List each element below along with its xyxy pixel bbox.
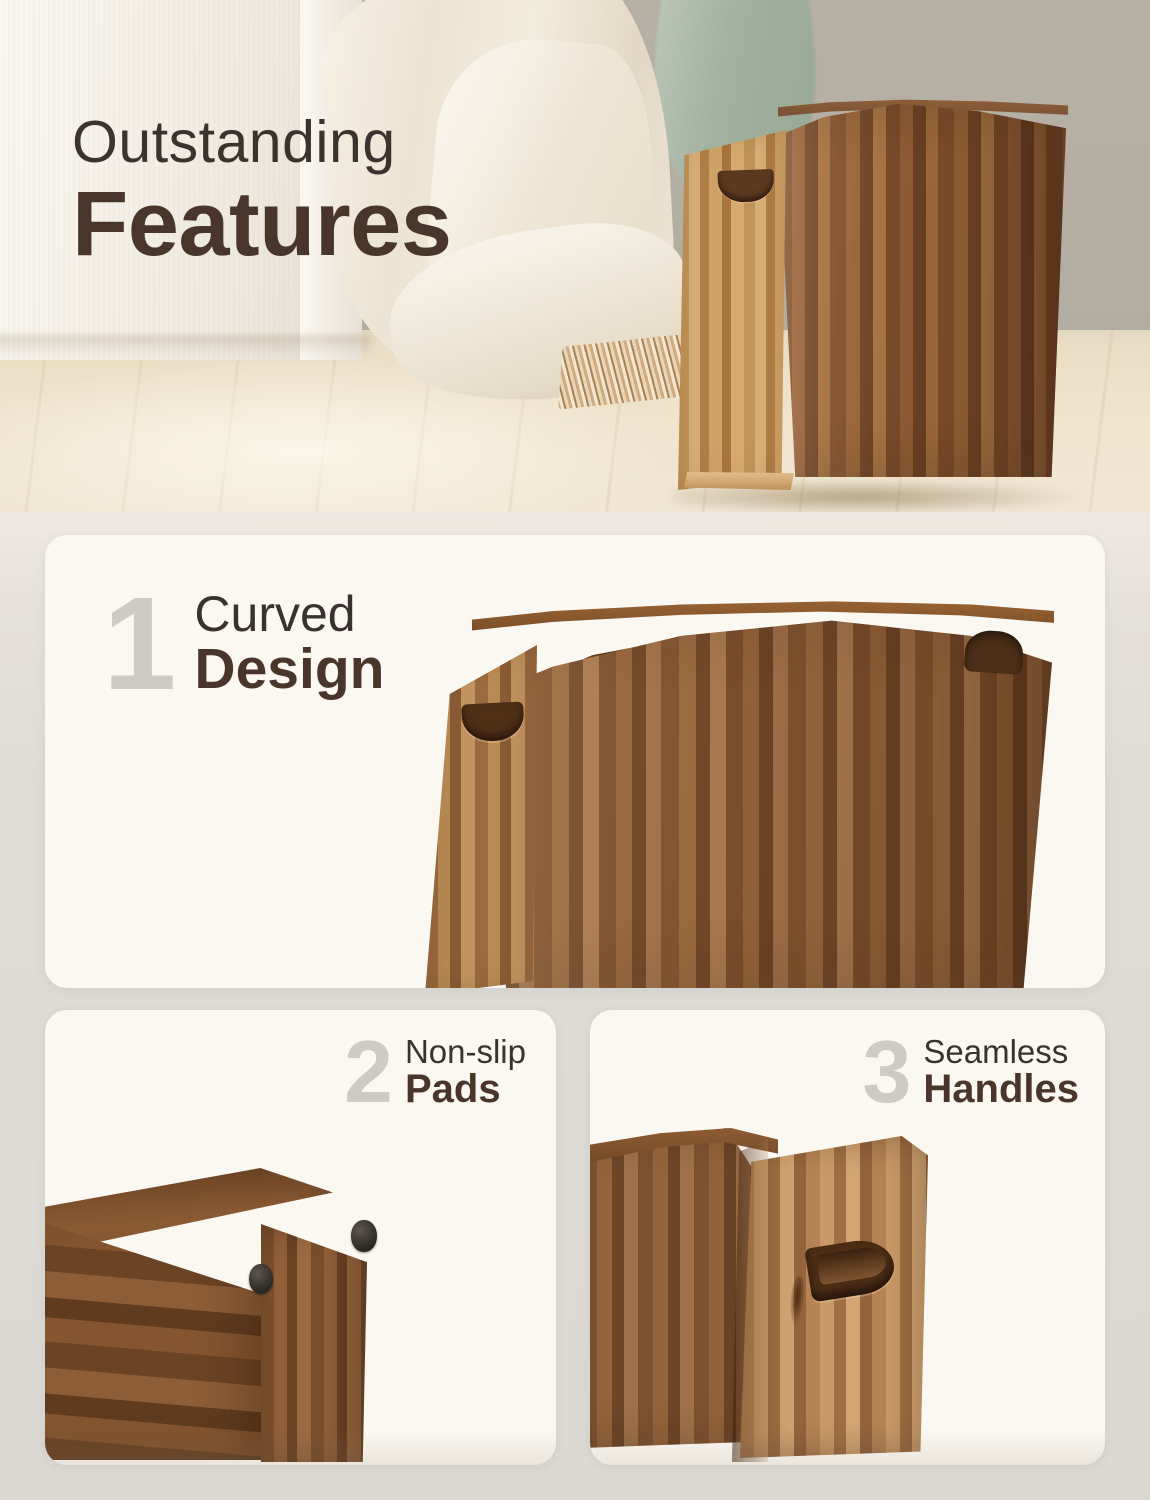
feature-1-product-image	[420, 553, 1105, 988]
product-base-left-face	[45, 1210, 265, 1460]
feature-2-caption: 2 Non-slip Pads	[344, 1032, 526, 1113]
product-feature-infographic: Outstanding Features 1 Curved Design	[0, 0, 1150, 1500]
wastebasket-front-shading	[778, 102, 1066, 477]
hero-title-thin: Outstanding	[72, 112, 452, 174]
feature-card-seamless-handles[interactable]: 3 Seamless Handles	[590, 1010, 1105, 1465]
page-title: Outstanding Features	[72, 112, 452, 270]
hero-section: Outstanding Features	[0, 0, 1150, 512]
feature-3-label-bold: Handles	[923, 1069, 1079, 1110]
non-slip-pad-icon-right	[351, 1220, 377, 1252]
feature-1-labels: Curved Design	[194, 589, 384, 698]
feature-3-product-image	[590, 1128, 1002, 1465]
feature-card-curved-design[interactable]: 1 Curved Design	[45, 535, 1105, 988]
feature-3-label-thin: Seamless	[923, 1035, 1079, 1069]
wastebasket-base-edge	[684, 472, 794, 490]
feature-2-label-bold: Pads	[405, 1069, 526, 1110]
feature-1-number: 1	[103, 583, 176, 704]
product-front-shading	[472, 613, 1052, 988]
product-right-handle-icon	[964, 629, 1025, 675]
non-slip-pad-icon-left	[249, 1264, 273, 1294]
feature-2-labels: Non-slip Pads	[405, 1035, 526, 1109]
product-base-right-face	[261, 1224, 367, 1462]
feature-1-caption: 1 Curved Design	[103, 583, 384, 704]
card-3-bottom-shadow	[590, 1429, 1105, 1465]
feature-2-product-image	[45, 1168, 433, 1465]
feature-3-caption: 3 Seamless Handles	[862, 1032, 1079, 1113]
feature-2-number: 2	[344, 1032, 393, 1113]
hero-wastebasket	[660, 88, 1110, 500]
card-2-bottom-shadow	[45, 1429, 556, 1465]
feature-1-label-thin: Curved	[194, 589, 384, 640]
sofa-floor-shadow	[0, 335, 370, 357]
product-left-panel	[425, 645, 537, 988]
feature-2-label-thin: Non-slip	[405, 1035, 526, 1069]
hero-title-bold: Features	[72, 178, 452, 270]
feature-3-number: 3	[862, 1032, 911, 1113]
feature-card-non-slip-pads[interactable]: 2 Non-slip Pads	[45, 1010, 556, 1465]
feature-3-labels: Seamless Handles	[923, 1035, 1079, 1109]
feature-1-label-bold: Design	[194, 640, 384, 698]
